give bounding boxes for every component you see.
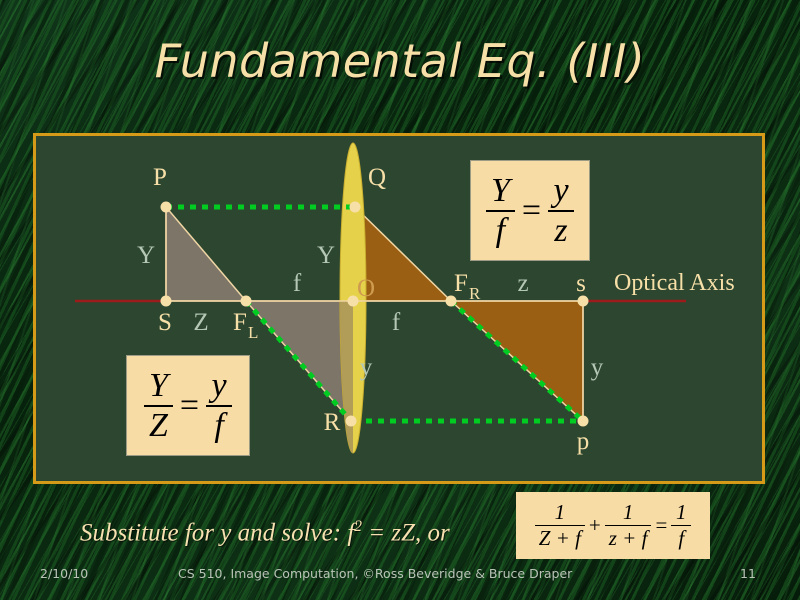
label-measure-Z: Z [193, 309, 208, 336]
label-measure-f-right: f [392, 309, 401, 336]
eq3-term2-denominator: z + f [605, 528, 652, 549]
label-optical-axis: Optical Axis [614, 270, 735, 296]
footer-page-number: 11 [740, 566, 756, 581]
label-measure-y-lens: y [360, 354, 373, 381]
equation-3-content: 1 Z + f + 1 z + f = 1 f [535, 502, 692, 550]
point-P-dot [161, 202, 172, 213]
point-Q-dot [350, 202, 361, 213]
lens-overlap-shade [340, 301, 353, 453]
label-point-FL: F [233, 309, 247, 336]
eq1-right-numerator: y [549, 174, 574, 208]
eq3-term1-numerator: 1 [551, 502, 570, 523]
label-measure-z: z [517, 270, 528, 297]
label-point-Q: Q [368, 164, 386, 191]
eq2-right-numerator: y [207, 369, 232, 403]
triangle-object-left [166, 207, 246, 301]
eq1-operator: = [515, 192, 548, 230]
eq2-left-numerator: Y [144, 369, 173, 403]
label-point-s: s [576, 270, 586, 297]
label-measure-y-right: y [591, 354, 604, 381]
substitute-prefix-text: Substitute for y and solve: f [80, 519, 354, 546]
slide-canvas: Fundamental Eq. (III) [0, 0, 800, 600]
eq2-right-denominator: f [209, 409, 228, 443]
label-point-P: P [153, 164, 167, 191]
equation-box-2: Y Z = y f [126, 355, 250, 456]
fraction-Y-over-f: Y f [486, 174, 515, 248]
footer-attribution: CS 510, Image Computation, ©Ross Beverid… [178, 566, 572, 581]
label-point-S: S [158, 309, 172, 336]
point-s-dot [578, 296, 589, 307]
label-point-R: R [324, 409, 341, 436]
eq3-term3-numerator: 1 [672, 502, 691, 523]
substitute-suffix-text: = zZ, or [362, 519, 450, 546]
equation-1-content: Y f = y z [486, 174, 574, 248]
substitute-exponent: 2 [354, 518, 362, 535]
eq3-term2-numerator: 1 [619, 502, 638, 523]
eq1-right-denominator: z [549, 214, 572, 248]
eq2-left-denominator: Z [144, 409, 173, 443]
eq1-left-denominator: f [491, 214, 510, 248]
fraction-1-over-f: 1 f [671, 502, 691, 550]
fraction-y-over-z: y z [548, 174, 574, 248]
substitute-instruction: Substitute for y and solve: f2 = zZ, or [80, 518, 450, 547]
eq3-term3-denominator: f [674, 528, 688, 549]
point-FL-dot [241, 296, 252, 307]
label-point-FL-subscript: L [248, 323, 258, 342]
eq3-operator-plus: + [585, 513, 605, 538]
point-FR-dot [446, 296, 457, 307]
label-point-FR-subscript: R [469, 284, 481, 303]
label-point-p: p [577, 428, 590, 455]
fraction-y-over-f: y f [206, 369, 232, 443]
fraction-1-over-Z-plus-f: 1 Z + f [535, 502, 585, 550]
eq3-operator-equals: = [651, 513, 671, 538]
label-point-FR: F [454, 270, 468, 297]
label-measure-f-left: f [293, 270, 302, 297]
eq1-left-numerator: Y [486, 174, 515, 208]
footer-date: 2/10/10 [40, 566, 88, 581]
equation-box-3: 1 Z + f + 1 z + f = 1 f [516, 492, 710, 559]
label-point-O: O [357, 275, 375, 302]
point-p-dot [578, 416, 589, 427]
eq3-term1-denominator: Z + f [535, 528, 585, 549]
point-S-dot [161, 296, 172, 307]
fraction-Y-over-Z: Y Z [144, 369, 173, 443]
page-title: Fundamental Eq. (III) [0, 34, 800, 88]
equation-box-1: Y f = y z [470, 160, 590, 261]
label-measure-Y-left: Y [137, 242, 155, 269]
point-R-dot [346, 416, 357, 427]
fraction-1-over-z-plus-f: 1 z + f [605, 502, 652, 550]
equation-2-content: Y Z = y f [144, 369, 232, 443]
eq2-operator: = [173, 387, 206, 425]
label-measure-Y-right: Y [317, 242, 335, 269]
